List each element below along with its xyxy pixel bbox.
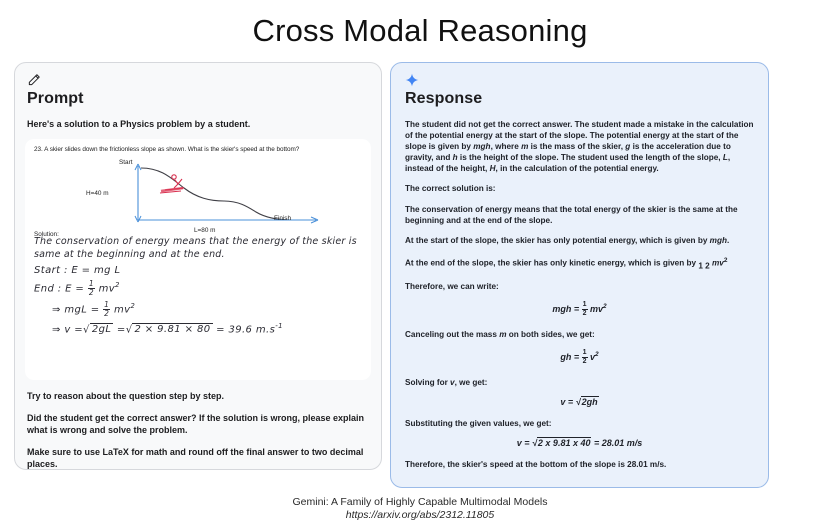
sparkle-icon (405, 73, 754, 89)
response-paragraph-9: Substituting the given values, we get: (405, 418, 754, 429)
resp-half-den-inline: 2 (705, 261, 710, 270)
hw-imply2-result-exp: -1 (275, 322, 283, 330)
figure-caption: Gemini: A Family of Highly Capable Multi… (0, 496, 840, 521)
equation-v-sqrt: v = √2gh (405, 397, 754, 407)
equation-mgh: mgh = 1 2 mv2 (405, 301, 754, 318)
response-card: Response The student did not get the cor… (390, 62, 769, 488)
handwriting-line-imply2: ⇒ v =√2gL =√2 × 9.81 × 80 = 39.6 m.s-1 (34, 322, 362, 335)
diagram-label-length: L=80 m (194, 227, 216, 234)
equation-substituted: v = √2 x 9.81 x 40 = 28.01 m/s (405, 438, 754, 448)
prompt-card: Prompt Here's a solution to a Physics pr… (14, 62, 382, 470)
caption-link[interactable]: https://arxiv.org/abs/2312.11805 (0, 509, 840, 521)
hw-end-exp: 2 (115, 281, 120, 289)
eq-mgh-half-num: 1 (582, 301, 588, 310)
eq-subst-radicand: 2 x 9.81 x 40 (537, 437, 592, 448)
response-paragraph-3: The conservation of energy means that th… (405, 204, 754, 226)
response-paragraph-1: The student did not get the correct answ… (405, 119, 754, 174)
resp-exp-inline: 2 (724, 257, 728, 264)
panels-container: Prompt Here's a solution to a Physics pr… (14, 62, 826, 488)
eq-mgh-rhs: mv (590, 303, 603, 313)
handwriting-line-end: End : E = 1 2 mv2 (34, 280, 362, 297)
handwriting-line-start: Start : E = mg L (34, 265, 362, 276)
eq-v-radicand: 2gh (581, 396, 599, 407)
hw-end-prefix: End : E = (34, 284, 84, 295)
handwriting-paragraph: The conservation of energy means that th… (34, 236, 362, 261)
eq-mgh-exp: 2 (603, 302, 607, 309)
eq-gh-half-num: 1 (582, 349, 588, 358)
prompt-title: Prompt (27, 90, 369, 108)
response-paragraph-4: At the start of the slope, the skier has… (405, 235, 754, 246)
skier-slope-diagram: Start H=40 m Finish L=80 m Solution: (34, 157, 362, 235)
hw-imply2-result: = 39.6 m.s (216, 324, 275, 335)
hw-imply2-eq: = (117, 324, 126, 335)
caption-title: Gemini: A Family of Highly Capable Multi… (0, 496, 840, 508)
eq-subst-lhs: v = √ (517, 438, 537, 448)
eq-v-lhs: v = √ (560, 397, 580, 407)
hw-half-fraction-2: 1 2 (103, 301, 110, 318)
hw-imply2-a: ⇒ v = (52, 324, 83, 335)
eq-mgh-half-den: 2 (583, 310, 587, 317)
hw-imply1-suffix: mv (114, 305, 130, 316)
hw-imply1-prefix: ⇒ mgL = (52, 305, 100, 316)
physics-question-text: 23. A skier slides down the frictionless… (34, 146, 362, 153)
eq-subst-rest: = 28.01 m/s (594, 438, 642, 448)
diagram-label-height: H=40 m (86, 190, 109, 197)
response-paragraph-6: Therefore, we can write: (405, 281, 754, 292)
response-paragraph-2: The correct solution is: (405, 183, 754, 194)
page-title: Cross Modal Reasoning (0, 0, 840, 54)
diagram-label-start: Start (119, 159, 133, 166)
response-paragraph-8: Solving for v, we get: (405, 377, 754, 388)
equation-gh: gh = 1 2 v2 (405, 349, 754, 366)
hw-imply2-rad2: 2 × 9.81 × 80 (132, 323, 212, 335)
handwritten-solution: The conservation of energy means that th… (34, 236, 362, 335)
prompt-paragraph-1: Try to reason about the question step by… (27, 390, 369, 403)
prompt-intro: Here's a solution to a Physics problem b… (27, 119, 369, 129)
response-conclusion: Therefore, the skier's speed at the bott… (405, 459, 754, 470)
hw-half-den: 2 (89, 288, 94, 297)
eq-mgh-lhs: mgh = (552, 303, 579, 313)
prompt-paragraph-3: Make sure to use LaTeX for math and roun… (27, 446, 369, 471)
handwriting-line-imply1: ⇒ mgL = 1 2 mv2 (34, 301, 362, 318)
diagram-label-finish: Finish (274, 215, 291, 222)
eq-gh-lhs: gh = (560, 352, 579, 362)
hw-imply2-rad1: 2gL (90, 323, 113, 335)
response-paragraph-5: At the end of the slope, the skier has o… (405, 255, 754, 272)
prompt-attachment-image: 23. A skier slides down the frictionless… (25, 139, 371, 380)
eq-mgh-half: 1 2 (582, 301, 588, 318)
resp-half-num-inline: 1 (698, 261, 703, 270)
prompt-paragraph-2: Did the student get the correct answer? … (27, 412, 369, 437)
pencil-icon (27, 73, 369, 89)
response-paragraph-7: Canceling out the mass m on both sides, … (405, 329, 754, 340)
eq-gh-exp: 2 (595, 351, 599, 358)
hw-end-suffix: mv (99, 284, 115, 295)
eq-gh-half: 1 2 (582, 349, 588, 366)
hw-half-den-2: 2 (104, 309, 109, 318)
response-title: Response (405, 90, 754, 108)
hw-half-fraction: 1 2 (88, 280, 95, 297)
hw-imply1-exp: 2 (130, 302, 135, 310)
eq-gh-half-den: 2 (583, 358, 587, 365)
